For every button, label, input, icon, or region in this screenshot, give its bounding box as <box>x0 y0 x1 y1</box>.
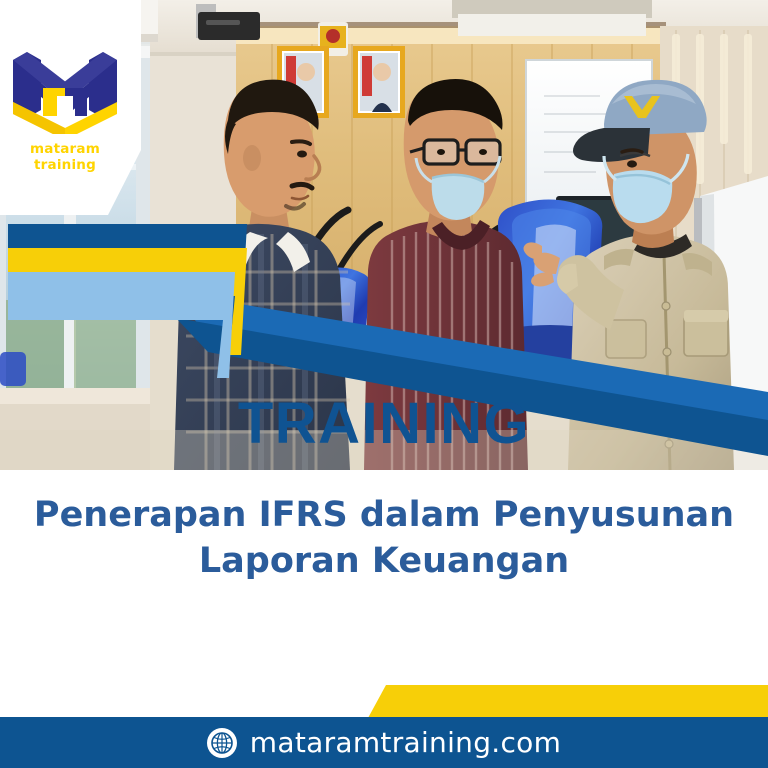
globe-icon-glyph <box>210 731 234 755</box>
logo-wordmark: mataram training <box>0 141 130 173</box>
website-url[interactable]: mataramtraining.com <box>250 726 561 759</box>
training-topic-line1: Penerapan IFRS dalam Penyusunan <box>22 492 746 538</box>
page-title: TRAINING <box>0 395 768 453</box>
poster-canvas: mataram training TRAINING Penerapan IFRS… <box>0 0 768 768</box>
footer-accent-bar <box>368 685 768 718</box>
globe-icon <box>207 728 237 758</box>
training-topic-line2: Laporan Keuangan <box>22 538 746 584</box>
training-topic: Penerapan IFRS dalam Penyusunan Laporan … <box>22 492 746 584</box>
footer-bar: mataramtraining.com <box>0 717 768 768</box>
mataram-m-logo <box>13 48 117 134</box>
